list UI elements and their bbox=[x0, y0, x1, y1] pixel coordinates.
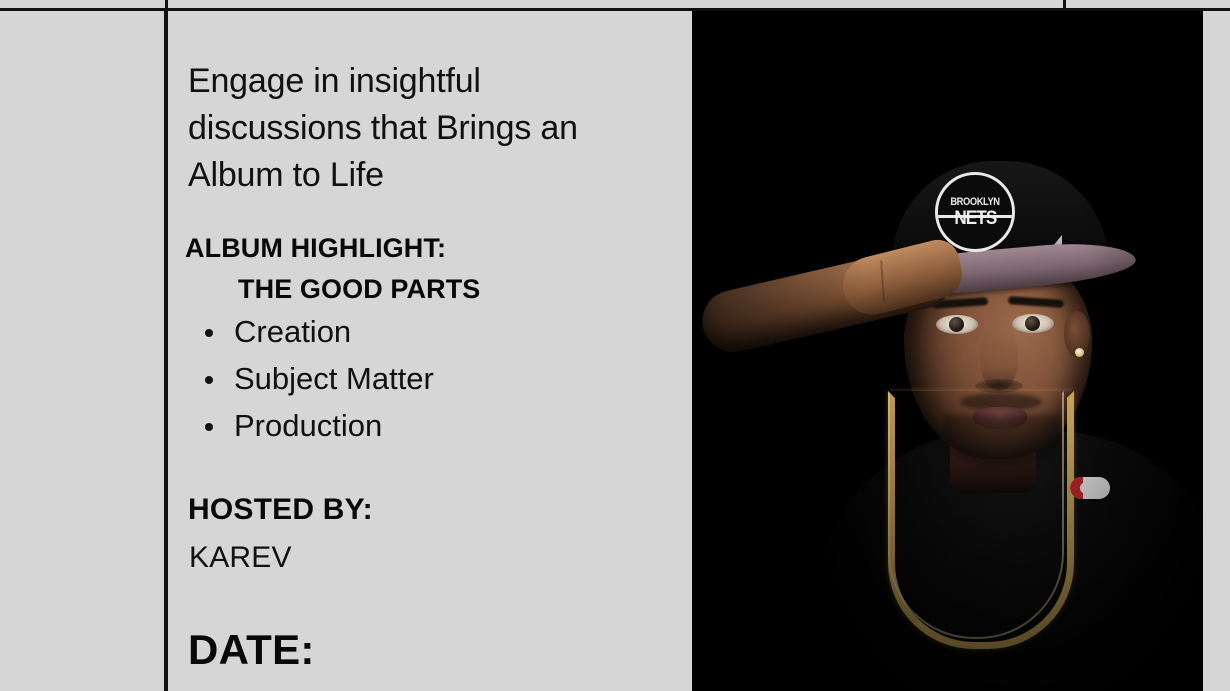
album-highlight-label: ALBUM HIGHLIGHT: bbox=[185, 233, 446, 264]
host-name: KAREV bbox=[189, 541, 292, 575]
eye-left-shape bbox=[936, 315, 978, 334]
bullet-dot-icon bbox=[205, 376, 213, 384]
champion-brand-patch-icon bbox=[1070, 477, 1110, 499]
highlight-bullet-list: Creation Subject Matter Production bbox=[196, 308, 434, 449]
eye-right-shape bbox=[1012, 314, 1054, 333]
right-gutter bbox=[1203, 11, 1230, 691]
portrait-photo-inner: BROOKLYN NETS bbox=[692, 11, 1203, 691]
top-strip bbox=[0, 0, 1230, 8]
date-label: DATE: bbox=[188, 626, 315, 674]
bullet-dot-icon bbox=[205, 423, 213, 431]
cap-logo-line2: NETS bbox=[954, 209, 996, 229]
list-item: Production bbox=[196, 402, 434, 449]
portrait-photo: BROOKLYN NETS bbox=[692, 11, 1203, 691]
brooklyn-nets-logo-icon: BROOKLYN NETS bbox=[935, 172, 1015, 252]
list-item-label: Subject Matter bbox=[234, 361, 434, 396]
album-highlight-subtitle: THE GOOD PARTS bbox=[238, 274, 480, 305]
text-column: Engage in insightful discussions that Br… bbox=[188, 11, 678, 691]
page-title: Engage in insightful discussions that Br… bbox=[188, 58, 608, 199]
left-vertical-rule bbox=[164, 11, 168, 691]
list-item: Creation bbox=[196, 308, 434, 355]
hosted-by-label: HOSTED BY: bbox=[188, 493, 373, 527]
slide-canvas: Engage in insightful discussions that Br… bbox=[0, 0, 1230, 691]
list-item-label: Creation bbox=[234, 314, 351, 349]
gold-chain-highlight bbox=[888, 391, 1064, 639]
bullet-dot-icon bbox=[205, 329, 213, 337]
stud-earring-icon bbox=[1075, 348, 1084, 357]
list-item-label: Production bbox=[234, 408, 382, 443]
list-item: Subject Matter bbox=[196, 355, 434, 402]
